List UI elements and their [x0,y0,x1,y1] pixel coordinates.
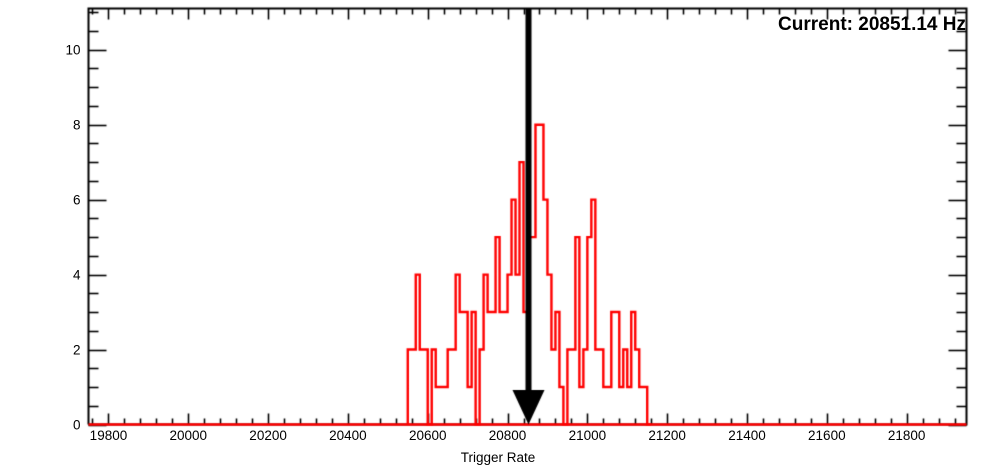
y-tick-label: 4 [53,267,81,282]
x-tick-label: 20600 [409,428,447,443]
current-rate-readout: Current: 20851.14 Hz [778,14,966,36]
chart-page: Current: 20851.14 Hz Trigger Rate 198002… [0,0,996,472]
x-tick-label: 21200 [648,428,686,443]
x-tick-label: 20400 [329,428,367,443]
x-axis-title: Trigger Rate [0,450,996,465]
x-tick-label: 21800 [888,428,926,443]
y-tick-label: 0 [53,417,81,432]
x-tick-label: 21000 [569,428,607,443]
x-tick-label: 20200 [249,428,287,443]
trigger-rate-histogram-canvas [0,0,996,472]
x-tick-label: 21400 [728,428,766,443]
y-tick-label: 8 [53,117,81,132]
x-tick-label: 21600 [808,428,846,443]
y-tick-label: 10 [53,42,81,57]
x-tick-label: 20000 [169,428,207,443]
y-tick-label: 2 [53,342,81,357]
x-tick-label: 19800 [90,428,128,443]
x-tick-label: 20800 [489,428,527,443]
y-tick-label: 6 [53,192,81,207]
